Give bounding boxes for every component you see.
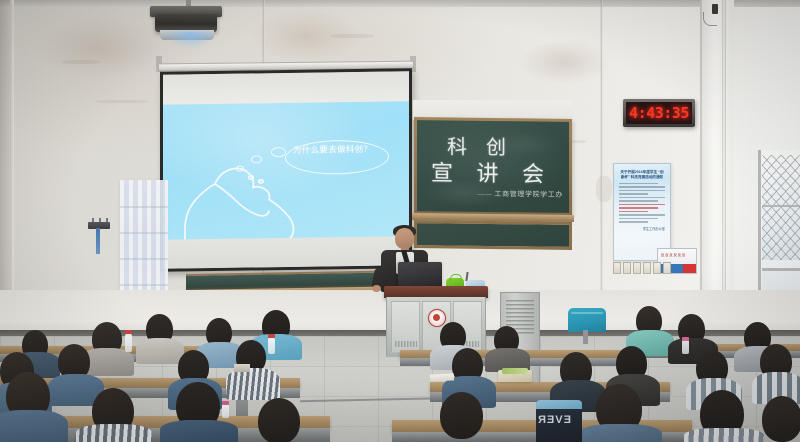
poster-text-line bbox=[619, 221, 648, 222]
water-bottle bbox=[682, 340, 689, 354]
bottle-cap bbox=[268, 334, 275, 338]
poster-text-line-highlight bbox=[619, 204, 665, 205]
bottle-cap bbox=[682, 337, 689, 341]
door-frame-edge bbox=[10, 0, 14, 340]
poster-text-line-highlight bbox=[619, 207, 658, 208]
poster-tile bbox=[633, 262, 641, 274]
poster-text-line bbox=[619, 197, 665, 198]
university-emblem-icon bbox=[428, 309, 446, 327]
wall-pillar bbox=[700, 0, 734, 330]
poster-signature-text: 学生工作办公室 bbox=[619, 226, 665, 231]
poster-tile bbox=[623, 262, 631, 274]
water-bottle bbox=[125, 334, 132, 352]
poster-tile bbox=[613, 262, 621, 274]
curtain-fold bbox=[120, 232, 168, 234]
window-grille-icon bbox=[762, 155, 800, 260]
water-bottle bbox=[268, 338, 275, 354]
blackboard-lower-panel bbox=[414, 220, 572, 250]
poster-text-line bbox=[619, 183, 658, 184]
blue-classroom-chair[interactable] bbox=[568, 308, 606, 332]
curtain-fold bbox=[120, 258, 168, 260]
wall-bracket-stem bbox=[96, 228, 100, 254]
digital-led-clock: 4:43:35 bbox=[623, 99, 695, 127]
poster-title-text: 关于开展2016年度学生 “创新杯” 科技竞赛活动的通知 bbox=[619, 170, 665, 180]
wall-cable bbox=[703, 12, 717, 26]
paper-sheet bbox=[234, 364, 250, 372]
window-mullion bbox=[762, 205, 800, 207]
bottle-cap bbox=[222, 401, 229, 405]
wall-poster-notice: 关于开展2016年度学生 “创新杯” 科技竞赛活动的通知 学生工作办公室 bbox=[613, 163, 671, 261]
bottle-cap bbox=[125, 330, 132, 334]
poster-text-line bbox=[619, 200, 658, 201]
poster-text-line bbox=[619, 190, 665, 191]
poster-text-line bbox=[619, 193, 648, 194]
poster-text-line bbox=[619, 214, 665, 215]
slide-bottom-margin bbox=[163, 236, 409, 268]
poster-text-line-highlight bbox=[619, 211, 648, 212]
blackboard: 科 创 宣 讲 会 —— 工商管理学院学工办 bbox=[414, 117, 572, 216]
wall-seam bbox=[600, 0, 603, 340]
presenter-hand bbox=[372, 285, 381, 292]
jacket-text: EVER bbox=[537, 414, 571, 426]
poster-text-line bbox=[619, 186, 665, 187]
curtain-fold bbox=[120, 284, 168, 286]
poster-tile-strip bbox=[613, 262, 671, 274]
jacket-with-print: EVER bbox=[536, 400, 582, 442]
poster-tile bbox=[643, 262, 651, 274]
chair-leg bbox=[583, 330, 588, 344]
clock-time-text: 4:43:35 bbox=[629, 104, 689, 122]
projection-screen: 为什么要去做科创？ bbox=[160, 68, 412, 272]
slide-canvas: 为什么要去做科创？ bbox=[163, 101, 409, 239]
poster-text-line bbox=[619, 218, 658, 219]
presenter-laptop[interactable] bbox=[398, 262, 442, 288]
water-bottle bbox=[222, 404, 229, 418]
classroom-photo: 为什么要去做科创？ 科 创 宣 讲 会 —— 工商管理学院学工办 4:43:35… bbox=[0, 0, 800, 442]
blackboard-title-line2: 宣 讲 会 bbox=[431, 155, 553, 188]
small-poster-text: 反反反反反反 bbox=[661, 252, 686, 257]
poster-tile bbox=[663, 262, 671, 274]
blackboard-surface: 科 创 宣 讲 会 —— 工商管理学院学工办 bbox=[417, 120, 569, 213]
clock-display: 4:43:35 bbox=[626, 102, 692, 124]
blackboard-subtitle: —— 工商管理学院学工办 bbox=[477, 189, 563, 200]
podium-vent bbox=[395, 341, 417, 347]
pillar-rail bbox=[722, 0, 726, 330]
slide-question-text: 为什么要去做科创？ bbox=[293, 144, 381, 156]
ceiling-edge bbox=[0, 0, 800, 7]
tray-contents bbox=[502, 368, 528, 374]
slide-top-margin bbox=[163, 71, 409, 104]
poster-tile bbox=[653, 262, 661, 274]
projected-slide: 为什么要去做科创？ bbox=[163, 71, 409, 268]
jacket-collar bbox=[536, 400, 582, 409]
projector-beam-glow bbox=[168, 32, 214, 48]
open-notebook bbox=[430, 373, 454, 381]
curtain-fold bbox=[120, 206, 168, 208]
